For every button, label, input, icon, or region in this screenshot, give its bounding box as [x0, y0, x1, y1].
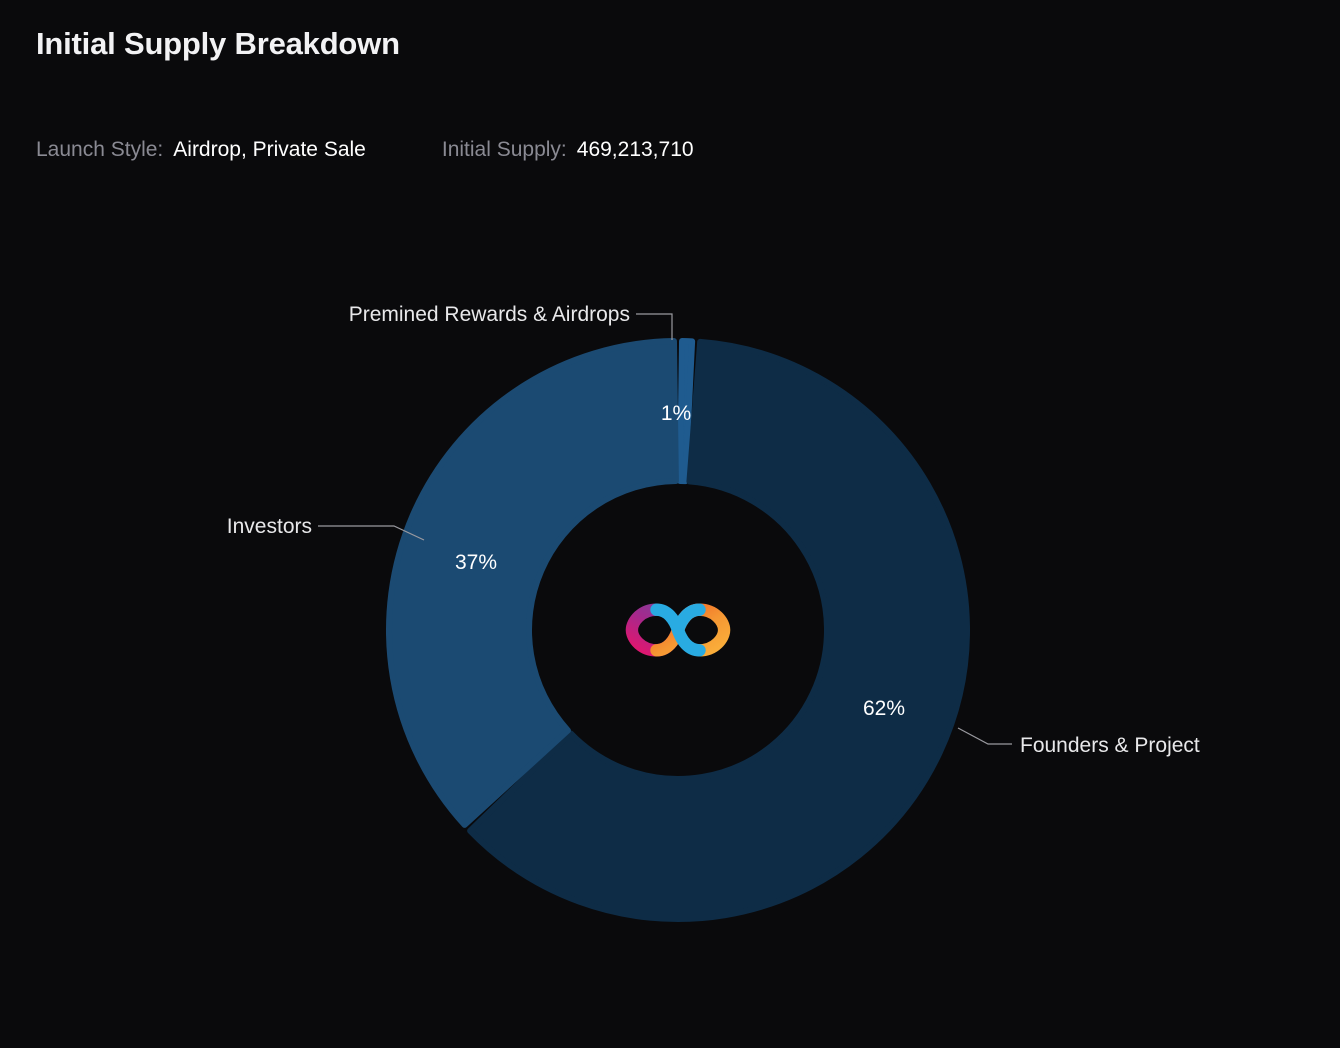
internet-computer-infinity-logo: [632, 610, 724, 651]
slice-value-investors: 37%: [455, 551, 497, 574]
slice-value-founders: 62%: [863, 697, 905, 720]
donut-chart-area: Premined Rewards & Airdrops Investors Fo…: [0, 188, 1340, 1048]
donut-slice[interactable]: [389, 341, 676, 825]
meta-initial-supply-value: 469,213,710: [577, 138, 694, 162]
supply-breakdown-page: Initial Supply Breakdown Launch Style: A…: [0, 0, 1340, 1048]
page-title: Initial Supply Breakdown: [36, 26, 400, 62]
leader-line-premined: [636, 314, 672, 340]
slice-value-premined: 1%: [661, 402, 691, 425]
meta-launch-style-label: Launch Style:: [36, 138, 163, 162]
meta-launch-style-value: Airdrop, Private Sale: [173, 138, 366, 162]
callout-label-investors: Investors: [227, 515, 312, 538]
metadata-row: Launch Style: Airdrop, Private Sale Init…: [36, 138, 694, 162]
callout-label-founders: Founders & Project: [1020, 734, 1200, 757]
meta-initial-supply-label: Initial Supply:: [442, 138, 567, 162]
leader-line-founders: [958, 728, 1012, 744]
meta-launch-style: Launch Style: Airdrop, Private Sale: [36, 138, 366, 162]
meta-initial-supply: Initial Supply: 469,213,710: [442, 138, 694, 162]
logo-crossing-stroke-upper: [678, 610, 700, 630]
callout-label-premined: Premined Rewards & Airdrops: [349, 303, 630, 326]
initial-supply-donut-chart: Premined Rewards & Airdrops Investors Fo…: [0, 188, 1340, 1048]
